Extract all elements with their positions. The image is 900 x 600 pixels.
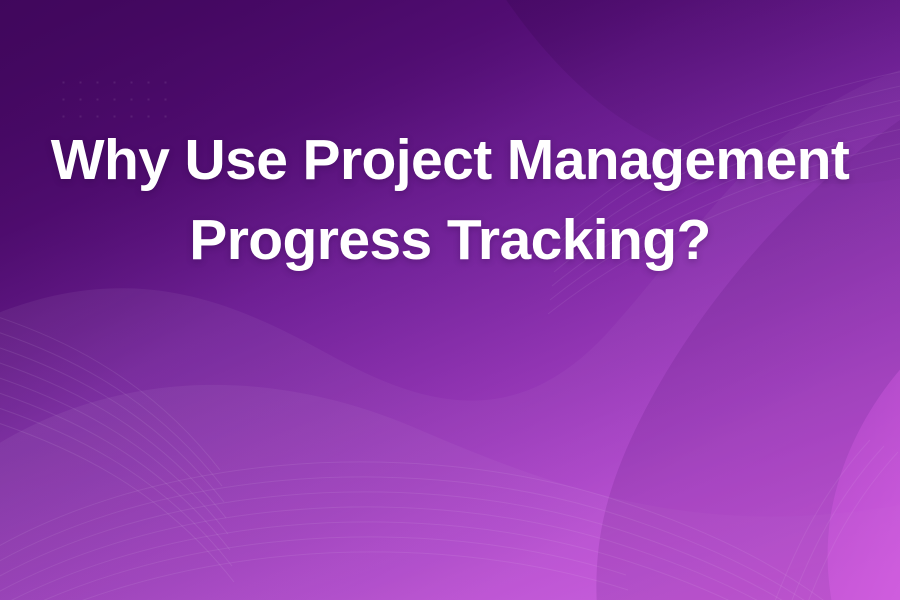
background-artwork: [0, 0, 900, 600]
hero-banner: Why Use Project Management Progress Trac…: [0, 0, 900, 600]
